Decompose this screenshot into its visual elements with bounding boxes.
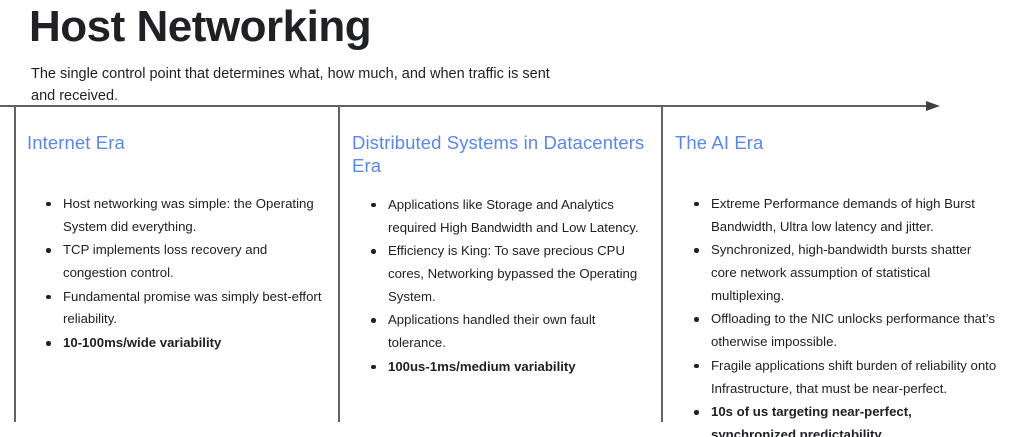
list-item: Synchronized, high-bandwidth bursts shat… xyxy=(675,239,997,307)
list-item-highlight: 10s of us targeting near-perfect, synchr… xyxy=(675,401,997,437)
list-item-text: Efficiency is King: To save precious CPU… xyxy=(388,243,637,303)
column-divider-2 xyxy=(661,106,663,422)
list-item-highlight: 100us-1ms/medium variability xyxy=(352,356,652,379)
list-item: TCP implements loss recovery and congest… xyxy=(27,239,327,284)
bullet-dot-icon xyxy=(371,249,376,254)
era-column-ai: The AI Era Extreme Performance demands o… xyxy=(675,132,997,437)
era-bullet-list: Applications like Storage and Analytics … xyxy=(352,194,652,379)
era-heading: Distributed Systems in Datacenters Era xyxy=(352,132,652,178)
bullet-dot-icon xyxy=(694,364,699,369)
list-item-text: Fragile applications shift burden of rel… xyxy=(711,358,996,396)
list-item: Fragile applications shift burden of rel… xyxy=(675,355,997,400)
list-item-text: Extreme Performance demands of high Burs… xyxy=(711,196,975,234)
column-divider-1 xyxy=(338,106,340,422)
era-bullet-list: Host networking was simple: the Operatin… xyxy=(27,193,327,355)
list-item-text: 100us-1ms/medium variability xyxy=(388,359,576,374)
era-column-distributed-systems: Distributed Systems in Datacenters Era A… xyxy=(352,132,652,380)
column-divider-left xyxy=(14,106,16,422)
page-title: Host Networking xyxy=(29,2,371,51)
list-item-text: Applications like Storage and Analytics … xyxy=(388,197,638,235)
bullet-dot-icon xyxy=(46,295,51,300)
list-item: Offloading to the NIC unlocks performanc… xyxy=(675,308,997,353)
list-item-highlight: 10-100ms/wide variability xyxy=(27,332,327,355)
bullet-dot-icon xyxy=(46,248,51,253)
bullet-dot-icon xyxy=(694,317,699,322)
slide-canvas: Host Networking The single control point… xyxy=(0,0,1011,437)
era-heading: Internet Era xyxy=(27,132,327,155)
era-heading: The AI Era xyxy=(675,132,997,155)
bullet-dot-icon xyxy=(371,318,376,323)
page-subtitle: The single control point that determines… xyxy=(31,64,551,108)
list-item: Applications handled their own fault tol… xyxy=(352,309,652,354)
list-item-text: Offloading to the NIC unlocks performanc… xyxy=(711,311,995,349)
list-item: Host networking was simple: the Operatin… xyxy=(27,193,327,238)
bullet-dot-icon xyxy=(694,248,699,253)
list-item-text: TCP implements loss recovery and congest… xyxy=(63,242,267,280)
list-item-text: Applications handled their own fault tol… xyxy=(388,312,595,350)
bullet-dot-icon xyxy=(694,202,699,207)
era-column-internet: Internet Era Host networking was simple:… xyxy=(27,132,327,356)
bullet-dot-icon xyxy=(46,341,51,346)
timeline-line xyxy=(0,105,930,107)
list-item-text: 10-100ms/wide variability xyxy=(63,335,221,350)
list-item: Applications like Storage and Analytics … xyxy=(352,194,652,239)
bullet-dot-icon xyxy=(694,410,699,415)
era-bullet-list: Extreme Performance demands of high Burs… xyxy=(675,193,997,437)
bullet-dot-icon xyxy=(371,203,376,208)
bullet-dot-icon xyxy=(46,202,51,207)
list-item-text: Synchronized, high-bandwidth bursts shat… xyxy=(711,242,971,302)
list-item-text: Fundamental promise was simply best-effo… xyxy=(63,289,321,327)
list-item: Fundamental promise was simply best-effo… xyxy=(27,286,327,331)
list-item: Efficiency is King: To save precious CPU… xyxy=(352,240,652,308)
list-item-text: Host networking was simple: the Operatin… xyxy=(63,196,314,234)
list-item: Extreme Performance demands of high Burs… xyxy=(675,193,997,238)
arrow-right-icon xyxy=(926,101,940,111)
bullet-dot-icon xyxy=(371,365,376,370)
era-timeline-arrow xyxy=(0,104,942,116)
list-item-text: 10s of us targeting near-perfect, synchr… xyxy=(711,404,912,437)
